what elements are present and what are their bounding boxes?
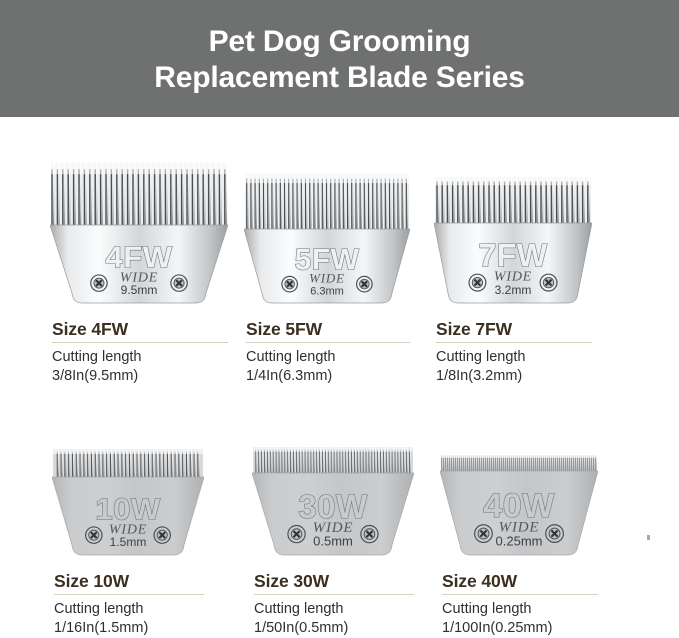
blade-illustration-5: 40WWIDE0.25mm	[440, 417, 598, 557]
product-cutting-label-4: Cutting length	[254, 600, 414, 619]
product-cutting-label-1: Cutting length	[246, 348, 410, 367]
blade-engraved-mm: 0.25mm	[496, 533, 543, 548]
caption-divider-5	[442, 594, 598, 595]
blade-engraved-size: 7FW	[478, 238, 547, 274]
caption-divider-2	[436, 342, 592, 343]
blade-illustration-1: 5FWWIDE6.3mm	[244, 165, 410, 305]
product-cutting-label-0: Cutting length	[52, 348, 228, 367]
product-title-1: Size 5FW	[246, 319, 410, 339]
product-caption-4: Size 30W Cutting length 1/50In(0.5mm)	[252, 571, 414, 638]
blade-engraved-mm: 9.5mm	[121, 283, 158, 297]
product-card-1: 5FWWIDE6.3mm Size 5FW Cutting length 1/4…	[244, 165, 410, 405]
blade-illustration-2: 7FWWIDE3.2mm	[434, 165, 592, 305]
blade-engraved-mm: 6.3mm	[310, 285, 344, 297]
blade-illustration-3: 10WWIDE1.5mm	[52, 417, 204, 557]
blade-engraved-size: 4FW	[106, 240, 173, 275]
blade-illustration-0: 4FWWIDE9.5mm	[50, 165, 228, 305]
product-card-3: 10WWIDE1.5mm Size 10W Cutting length 1/1…	[52, 417, 204, 637]
blade-graphic-3: 10WWIDE1.5mm	[52, 447, 204, 557]
blade-graphic-0: 4FWWIDE9.5mm	[50, 161, 228, 305]
product-title-5: Size 40W	[442, 571, 598, 591]
product-card-4: 30WWIDE0.5mm Size 30W Cutting length 1/5…	[252, 417, 414, 637]
product-card-5: 40WWIDE0.25mm Size 40W Cutting length 1/…	[440, 417, 598, 637]
blade-engraved-wide: WIDE	[309, 270, 345, 285]
product-row-top: 4FWWIDE9.5mm Size 4FW Cutting length 3/8…	[0, 165, 679, 405]
blade-engraved-mm: 0.5mm	[313, 534, 353, 549]
product-cutting-label-5: Cutting length	[442, 600, 598, 619]
product-card-2: 7FWWIDE3.2mm Size 7FW Cutting length 1/8…	[434, 165, 592, 405]
product-cutting-value-1: 1/4In(6.3mm)	[246, 367, 410, 386]
product-cutting-label-2: Cutting length	[436, 348, 592, 367]
blade-graphic-1: 5FWWIDE6.3mm	[244, 171, 410, 305]
header-title-line-2: Replacement Blade Series	[154, 60, 524, 96]
blade-engraved-mm: 3.2mm	[495, 283, 532, 297]
blade-illustration-4: 30WWIDE0.5mm	[252, 417, 414, 557]
product-grid: 4FWWIDE9.5mm Size 4FW Cutting length 3/8…	[0, 117, 679, 637]
blade-graphic-5: 40WWIDE0.25mm	[440, 453, 598, 557]
product-title-3: Size 10W	[54, 571, 204, 591]
product-title-0: Size 4FW	[52, 319, 228, 339]
blade-engraved-mm: 1.5mm	[110, 535, 147, 549]
product-cutting-value-4: 1/50In(0.5mm)	[254, 619, 414, 638]
product-title-2: Size 7FW	[436, 319, 592, 339]
product-cutting-value-3: 1/16In(1.5mm)	[54, 619, 204, 638]
product-cutting-value-0: 3/8In(9.5mm)	[52, 367, 228, 386]
blade-engraved-size: 10W	[95, 492, 160, 527]
product-caption-1: Size 5FW Cutting length 1/4In(6.3mm)	[244, 319, 410, 386]
product-caption-2: Size 7FW Cutting length 1/8In(3.2mm)	[434, 319, 592, 386]
product-cutting-label-3: Cutting length	[54, 600, 204, 619]
header-title-line-1: Pet Dog Grooming	[209, 24, 471, 60]
header-banner: Pet Dog Grooming Replacement Blade Serie…	[0, 0, 679, 117]
caption-divider-0	[52, 342, 228, 343]
product-caption-3: Size 10W Cutting length 1/16In(1.5mm)	[52, 571, 204, 638]
caption-divider-1	[246, 342, 410, 343]
scan-artifact	[647, 535, 650, 540]
blade-graphic-4: 30WWIDE0.5mm	[252, 445, 414, 557]
product-caption-5: Size 40W Cutting length 1/100In(0.25mm)	[440, 571, 598, 638]
caption-divider-4	[254, 594, 414, 595]
product-caption-0: Size 4FW Cutting length 3/8In(9.5mm)	[50, 319, 228, 386]
product-title-4: Size 30W	[254, 571, 414, 591]
blade-graphic-2: 7FWWIDE3.2mm	[434, 175, 592, 305]
product-card-0: 4FWWIDE9.5mm Size 4FW Cutting length 3/8…	[50, 165, 228, 405]
product-cutting-value-5: 1/100In(0.25mm)	[442, 619, 598, 638]
caption-divider-3	[54, 594, 204, 595]
product-cutting-value-2: 1/8In(3.2mm)	[436, 367, 592, 386]
product-row-bottom: 10WWIDE1.5mm Size 10W Cutting length 1/1…	[0, 417, 679, 637]
